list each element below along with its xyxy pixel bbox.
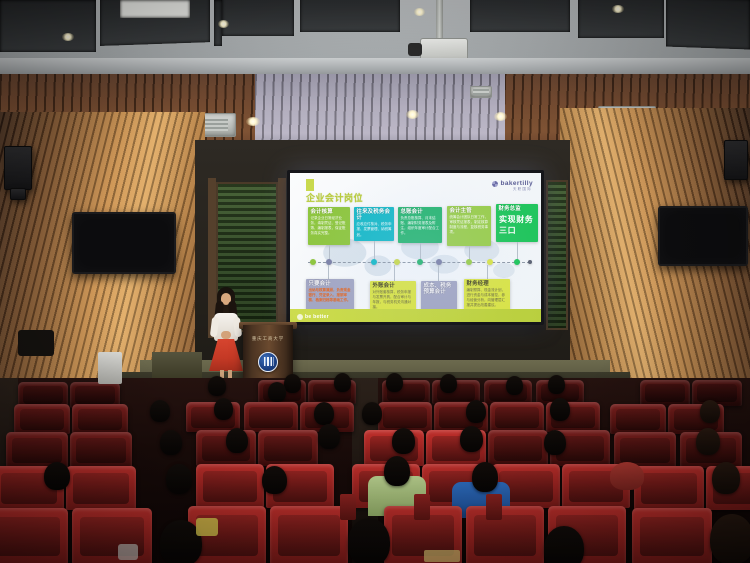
audience-head [166, 464, 192, 494]
led-presentation-screen[interactable]: 企业会计岗位 bakertilly 天职国际 会计核算 记录企业日常经济业务，填… [287, 170, 544, 325]
audience-bag [118, 544, 138, 560]
audience-head [150, 400, 170, 422]
seat[interactable] [610, 404, 666, 434]
audience-bag [196, 518, 218, 536]
node-body: 记录企业日常经济业务，填制凭证、登记账簿、编制报表，保证账务真实完整。 [308, 216, 350, 238]
node-heading: 总账会计 [398, 207, 442, 216]
ceiling-downlight [218, 20, 229, 28]
ceiling-panel [470, 0, 570, 32]
seat-armrest [340, 494, 356, 520]
seat[interactable] [634, 466, 704, 510]
seat[interactable] [72, 404, 128, 434]
stage-stool [98, 352, 122, 384]
slide-content: 企业会计岗位 bakertilly 天职国际 会计核算 记录企业日常经济业务，填… [290, 173, 541, 322]
node-heading: 成本、税务 预算会计 [421, 281, 457, 296]
seat[interactable] [488, 430, 548, 466]
bakertilly-logo-icon: bakertilly [492, 180, 533, 187]
audience-head [392, 428, 415, 454]
brand-name: bakertilly [500, 180, 533, 187]
node-upper-2: 总账会计 负责总账核算、月末结账、编制财务报表及附注，组织年度审计配合工作。 [398, 207, 442, 243]
wall-speaker-right [724, 140, 748, 180]
wall-tv-right [658, 206, 748, 266]
window-frame [278, 178, 286, 338]
ceiling-panel [666, 0, 750, 49]
audience-head [544, 526, 584, 563]
ceiling-panel [120, 0, 190, 18]
seat[interactable] [244, 402, 298, 432]
audience-head [44, 462, 70, 490]
audience-head [226, 428, 248, 453]
node-heading: 往来及税务会计 [354, 207, 394, 222]
seat[interactable] [258, 430, 318, 466]
audience-head [700, 400, 720, 423]
node-upper-3: 会计主管 统筹会计团队日常工作，审核凭证报表，制定核算制度与流程，复核税务事项。 [447, 206, 491, 246]
ceiling-downlight [414, 8, 425, 16]
seat[interactable] [0, 508, 68, 563]
node-upper-0: 会计核算 记录企业日常经济业务，填制凭证、登记账簿、编制报表，保证账务真实完整。 [308, 207, 350, 245]
seat[interactable] [70, 432, 132, 468]
audience-head [262, 466, 287, 494]
university-emblem [258, 352, 278, 372]
window-blinds-right [546, 180, 568, 330]
audience-head [548, 375, 565, 394]
wall-speaker-left [4, 146, 32, 190]
node-heading: 只要会计 [306, 279, 354, 288]
node-body: 负责总账核算、月末结账、编制财务报表及附注，组织年度审计配合工作。 [398, 216, 442, 238]
seat-armrest [414, 494, 430, 520]
audience-head [472, 462, 498, 492]
timeline-dot [514, 259, 520, 265]
node-body: 应收应付核对、税务申报、发票管理、纳税筹划。 [354, 222, 394, 239]
audience-head [386, 373, 403, 392]
slide-title: 企业会计岗位 [306, 191, 363, 204]
wall-tv-left [72, 212, 176, 274]
seat[interactable] [466, 506, 544, 563]
ceiling-panel [222, 0, 294, 36]
audience-head [550, 398, 570, 421]
audience-head [460, 426, 483, 452]
ceiling-panel [0, 0, 96, 52]
seat[interactable] [692, 380, 742, 406]
audience-head [208, 376, 226, 396]
seat[interactable] [640, 380, 690, 406]
audience-head [334, 373, 351, 392]
node-heading: 财务经理 [464, 279, 510, 288]
audience-head [466, 400, 486, 423]
audience-head [314, 402, 334, 425]
audience-head [696, 428, 720, 455]
audience-paper [424, 550, 460, 562]
presenter [208, 287, 244, 383]
ceiling-downlight [62, 33, 74, 41]
node-stem [487, 265, 488, 279]
audience-head [160, 430, 182, 455]
audience-head [384, 456, 410, 486]
node-stem [438, 265, 439, 281]
audience-head [284, 374, 301, 393]
node-upper-1: 往来及税务会计 应收应付核对、税务申报、发票管理、纳税筹划。 [354, 207, 394, 241]
ceiling-vent [470, 86, 492, 98]
timeline-dot [417, 259, 423, 265]
ceiling-downlight [406, 110, 419, 119]
seat[interactable] [270, 506, 348, 563]
timeline-dot [310, 259, 316, 265]
wall-speaker-left-sub [10, 188, 26, 200]
ceiling-panel [300, 0, 400, 32]
node-stem [374, 241, 375, 261]
audience-head [348, 518, 390, 563]
node-emphasis-text: 实现财务三口 [496, 213, 538, 238]
seat[interactable] [632, 508, 712, 563]
lecture-hall-photo: 企业会计岗位 bakertilly 天职国际 会计核算 记录企业日常经济业务，填… [0, 0, 750, 563]
audience-head [440, 374, 457, 393]
audience-head [710, 514, 750, 563]
brand-subtitle: 天职国际 [513, 187, 532, 192]
seat[interactable] [72, 508, 152, 563]
audience-head [214, 398, 233, 420]
seat[interactable] [66, 466, 136, 510]
timeline-dot [466, 259, 472, 265]
node-stem [328, 265, 329, 279]
be-better-logo-icon: be better [297, 314, 329, 320]
ceiling-downlight [246, 117, 260, 126]
brand-mark-icon [492, 181, 498, 187]
node-heading: 会计主管 [447, 206, 491, 215]
projector-mount [436, 0, 443, 40]
audience-head [506, 376, 523, 395]
seat[interactable] [196, 464, 264, 508]
timeline-dot [326, 259, 332, 265]
footer-mark-icon [297, 314, 303, 320]
node-upper-4: 财务总监 实现财务三口 [496, 204, 538, 242]
seat[interactable] [490, 402, 544, 432]
ceiling-downlight [612, 5, 624, 13]
node-heading: 会计核算 [308, 207, 350, 216]
audience-head [712, 462, 740, 494]
node-heading: 外账会计 [370, 281, 416, 290]
node-stem [394, 265, 395, 281]
seat-armrest [486, 494, 502, 520]
audience-seating [0, 378, 750, 563]
audience-head [362, 402, 382, 425]
timeline-dot [371, 259, 377, 265]
node-body: 编制预算、现金流计划，进行资金与成本管控，参与经营分析，向管理层汇报并提出改善建… [464, 288, 510, 310]
audience-red-cap [610, 462, 644, 490]
audience-head [318, 424, 340, 449]
presenter-hands [221, 331, 231, 339]
node-body: 出纳与核算兼顾，负责现金银行、凭证录入、报销审核、档案归档等基础工作。 [306, 288, 354, 305]
footer-text: be better [305, 314, 329, 320]
timeline-dot [528, 260, 532, 264]
audience-head [268, 382, 286, 402]
ceiling-downlight [494, 112, 507, 121]
timeline-dot [436, 259, 442, 265]
presenter-red-skirt [209, 339, 243, 371]
audience-head [544, 430, 566, 455]
node-body: 统筹会计团队日常工作，审核凭证报表，制定核算制度与流程，复核税务事项。 [447, 215, 491, 237]
stage-equipment [18, 330, 54, 356]
podium-inscription: 重庆工商大学 [247, 336, 289, 344]
title-accent-mark [306, 179, 314, 191]
node-heading: 财务总监 [496, 204, 538, 213]
seat[interactable] [14, 404, 70, 434]
